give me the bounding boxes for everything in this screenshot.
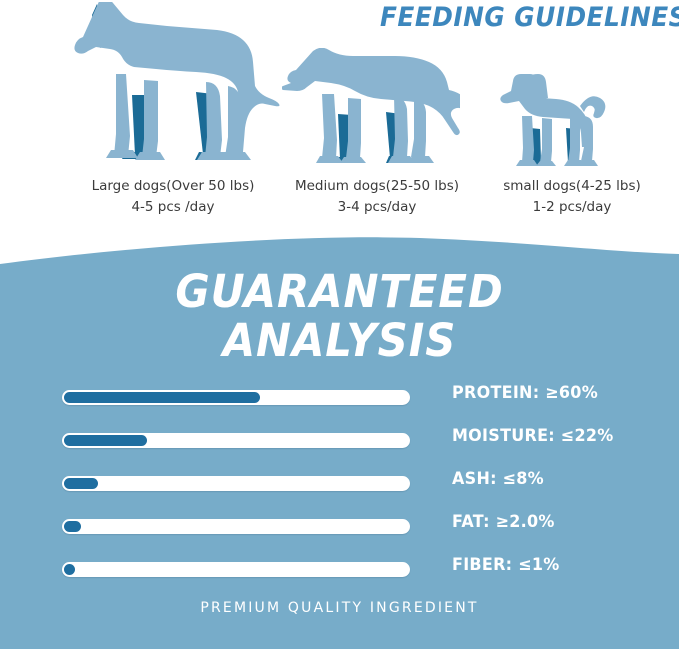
- small-dog-amount-label: 1-2 pcs/day: [533, 199, 612, 215]
- ash-bar-fill: [64, 478, 98, 489]
- medium-dog-size-label: Medium dogs(25-50 lbs): [295, 178, 459, 194]
- nutrient-row-moisture: MOISTURE: ≤22%: [0, 425, 679, 468]
- fiber-bar-fill: [64, 564, 75, 575]
- protein-bar-fill: [64, 392, 260, 403]
- footer-tagline: PREMIUM QUALITY INGREDIENT: [0, 600, 679, 616]
- moisture-label: MOISTURE: ≤22%: [452, 426, 614, 446]
- medium-dog-silhouette-icon: [282, 48, 460, 174]
- large-dog-size-label: Large dogs(Over 50 lbs): [92, 178, 255, 194]
- small-dog-caption: small dogs(4-25 lbs) 1-2 pcs/day: [472, 176, 672, 218]
- protein-bar-track: [62, 390, 410, 405]
- nutrient-row-protein: PROTEIN: ≥60%: [0, 382, 679, 425]
- small-dog-silhouette-icon: [492, 72, 624, 174]
- small-dog-size-label: small dogs(4-25 lbs): [503, 178, 641, 194]
- fiber-label: FIBER: ≤1%: [452, 555, 560, 575]
- analysis-title: GUARANTEED ANALYSIS: [24, 267, 655, 365]
- page-title: FEEDING GUIDELINES: [380, 2, 656, 33]
- fiber-bar-track: [62, 562, 410, 577]
- analysis-title-line1: GUARANTEED: [175, 265, 503, 318]
- nutrient-row-fiber: FIBER: ≤1%: [0, 554, 679, 597]
- fat-label: FAT: ≥2.0%: [452, 512, 555, 532]
- moisture-bar-fill: [64, 435, 147, 446]
- large-dog-amount-label: 4-5 pcs /day: [131, 199, 214, 215]
- protein-label: PROTEIN: ≥60%: [452, 383, 598, 403]
- moisture-bar-track: [62, 433, 410, 448]
- analysis-title-line2: ANALYSIS: [24, 316, 655, 365]
- fat-bar-fill: [64, 521, 81, 532]
- nutrient-bar-list: PROTEIN: ≥60% MOISTURE: ≤22% ASH: ≤8% FA…: [0, 382, 679, 597]
- large-dog-caption: Large dogs(Over 50 lbs) 4-5 pcs /day: [48, 176, 298, 218]
- medium-dog-caption: Medium dogs(25-50 lbs) 3-4 pcs/day: [272, 176, 482, 218]
- fat-bar-track: [62, 519, 410, 534]
- large-dog-silhouette-icon: [56, 2, 286, 174]
- feeding-guidelines-section: FEEDING GUIDELINES Large dogs(Over 50 lb…: [0, 0, 679, 250]
- ash-label: ASH: ≤8%: [452, 469, 544, 489]
- nutrient-row-ash: ASH: ≤8%: [0, 468, 679, 511]
- ash-bar-track: [62, 476, 410, 491]
- medium-dog-amount-label: 3-4 pcs/day: [338, 199, 417, 215]
- nutrient-row-fat: FAT: ≥2.0%: [0, 511, 679, 554]
- guaranteed-analysis-section: GUARANTEED ANALYSIS PROTEIN: ≥60% MOISTU…: [0, 232, 679, 649]
